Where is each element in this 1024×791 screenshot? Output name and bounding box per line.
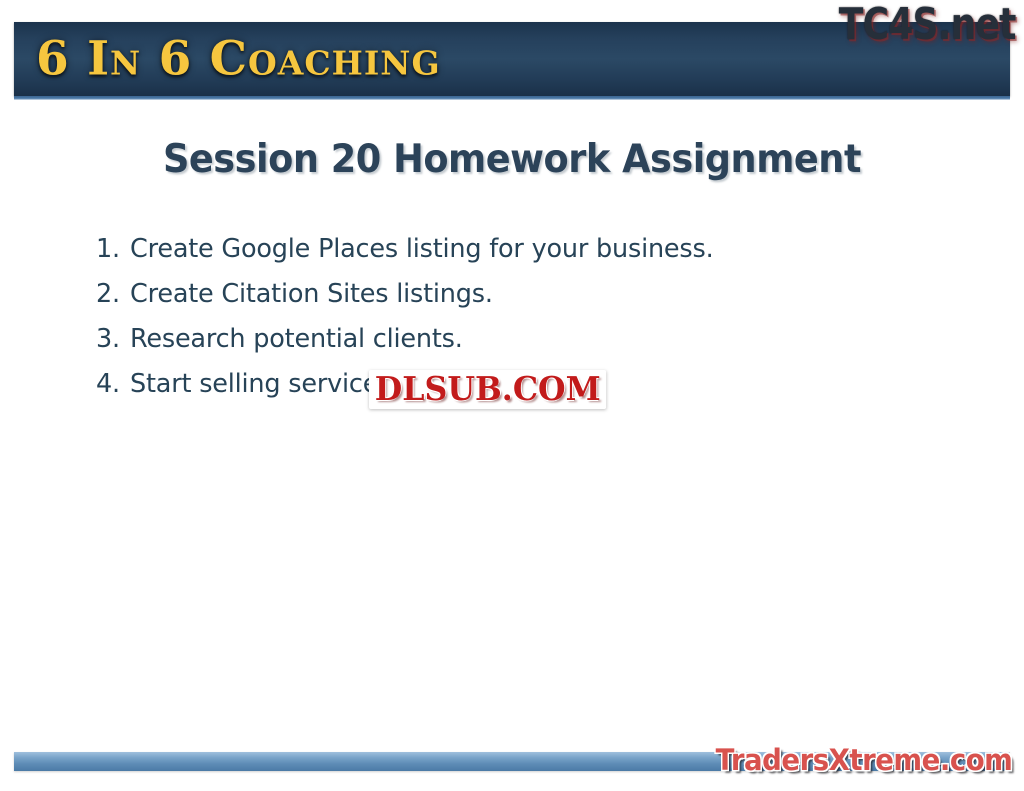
list-item-label: Start selling services. (130, 372, 399, 398)
banner-title: 6 In 6 Coaching (36, 36, 441, 83)
page-title: Session 20 Homework Assignment (31, 137, 994, 182)
tradersxtreme-watermark: TradersXtreme.com (715, 746, 1012, 775)
list-item: 1. Create Google Places listing for your… (96, 237, 956, 263)
list-item-number: 2. (96, 282, 130, 308)
list-item-number: 1. (96, 237, 130, 263)
list-item-label: Create Google Places listing for your bu… (130, 237, 714, 263)
list-item-number: 4. (96, 372, 130, 398)
presentation-slide: 6 In 6 Coaching TC4S.net Session 20 Home… (0, 0, 1024, 791)
list-item: 3. Research potential clients. (96, 327, 956, 353)
list-item: 2. Create Citation Sites listings. (96, 282, 956, 308)
list-item-label: Research potential clients. (130, 327, 463, 353)
tc4s-watermark: TC4S.net (839, 2, 1016, 48)
list-item-number: 3. (96, 327, 130, 353)
dlsub-watermark: DLSUB.COM (369, 370, 606, 409)
list-item-label: Create Citation Sites listings. (130, 282, 493, 308)
